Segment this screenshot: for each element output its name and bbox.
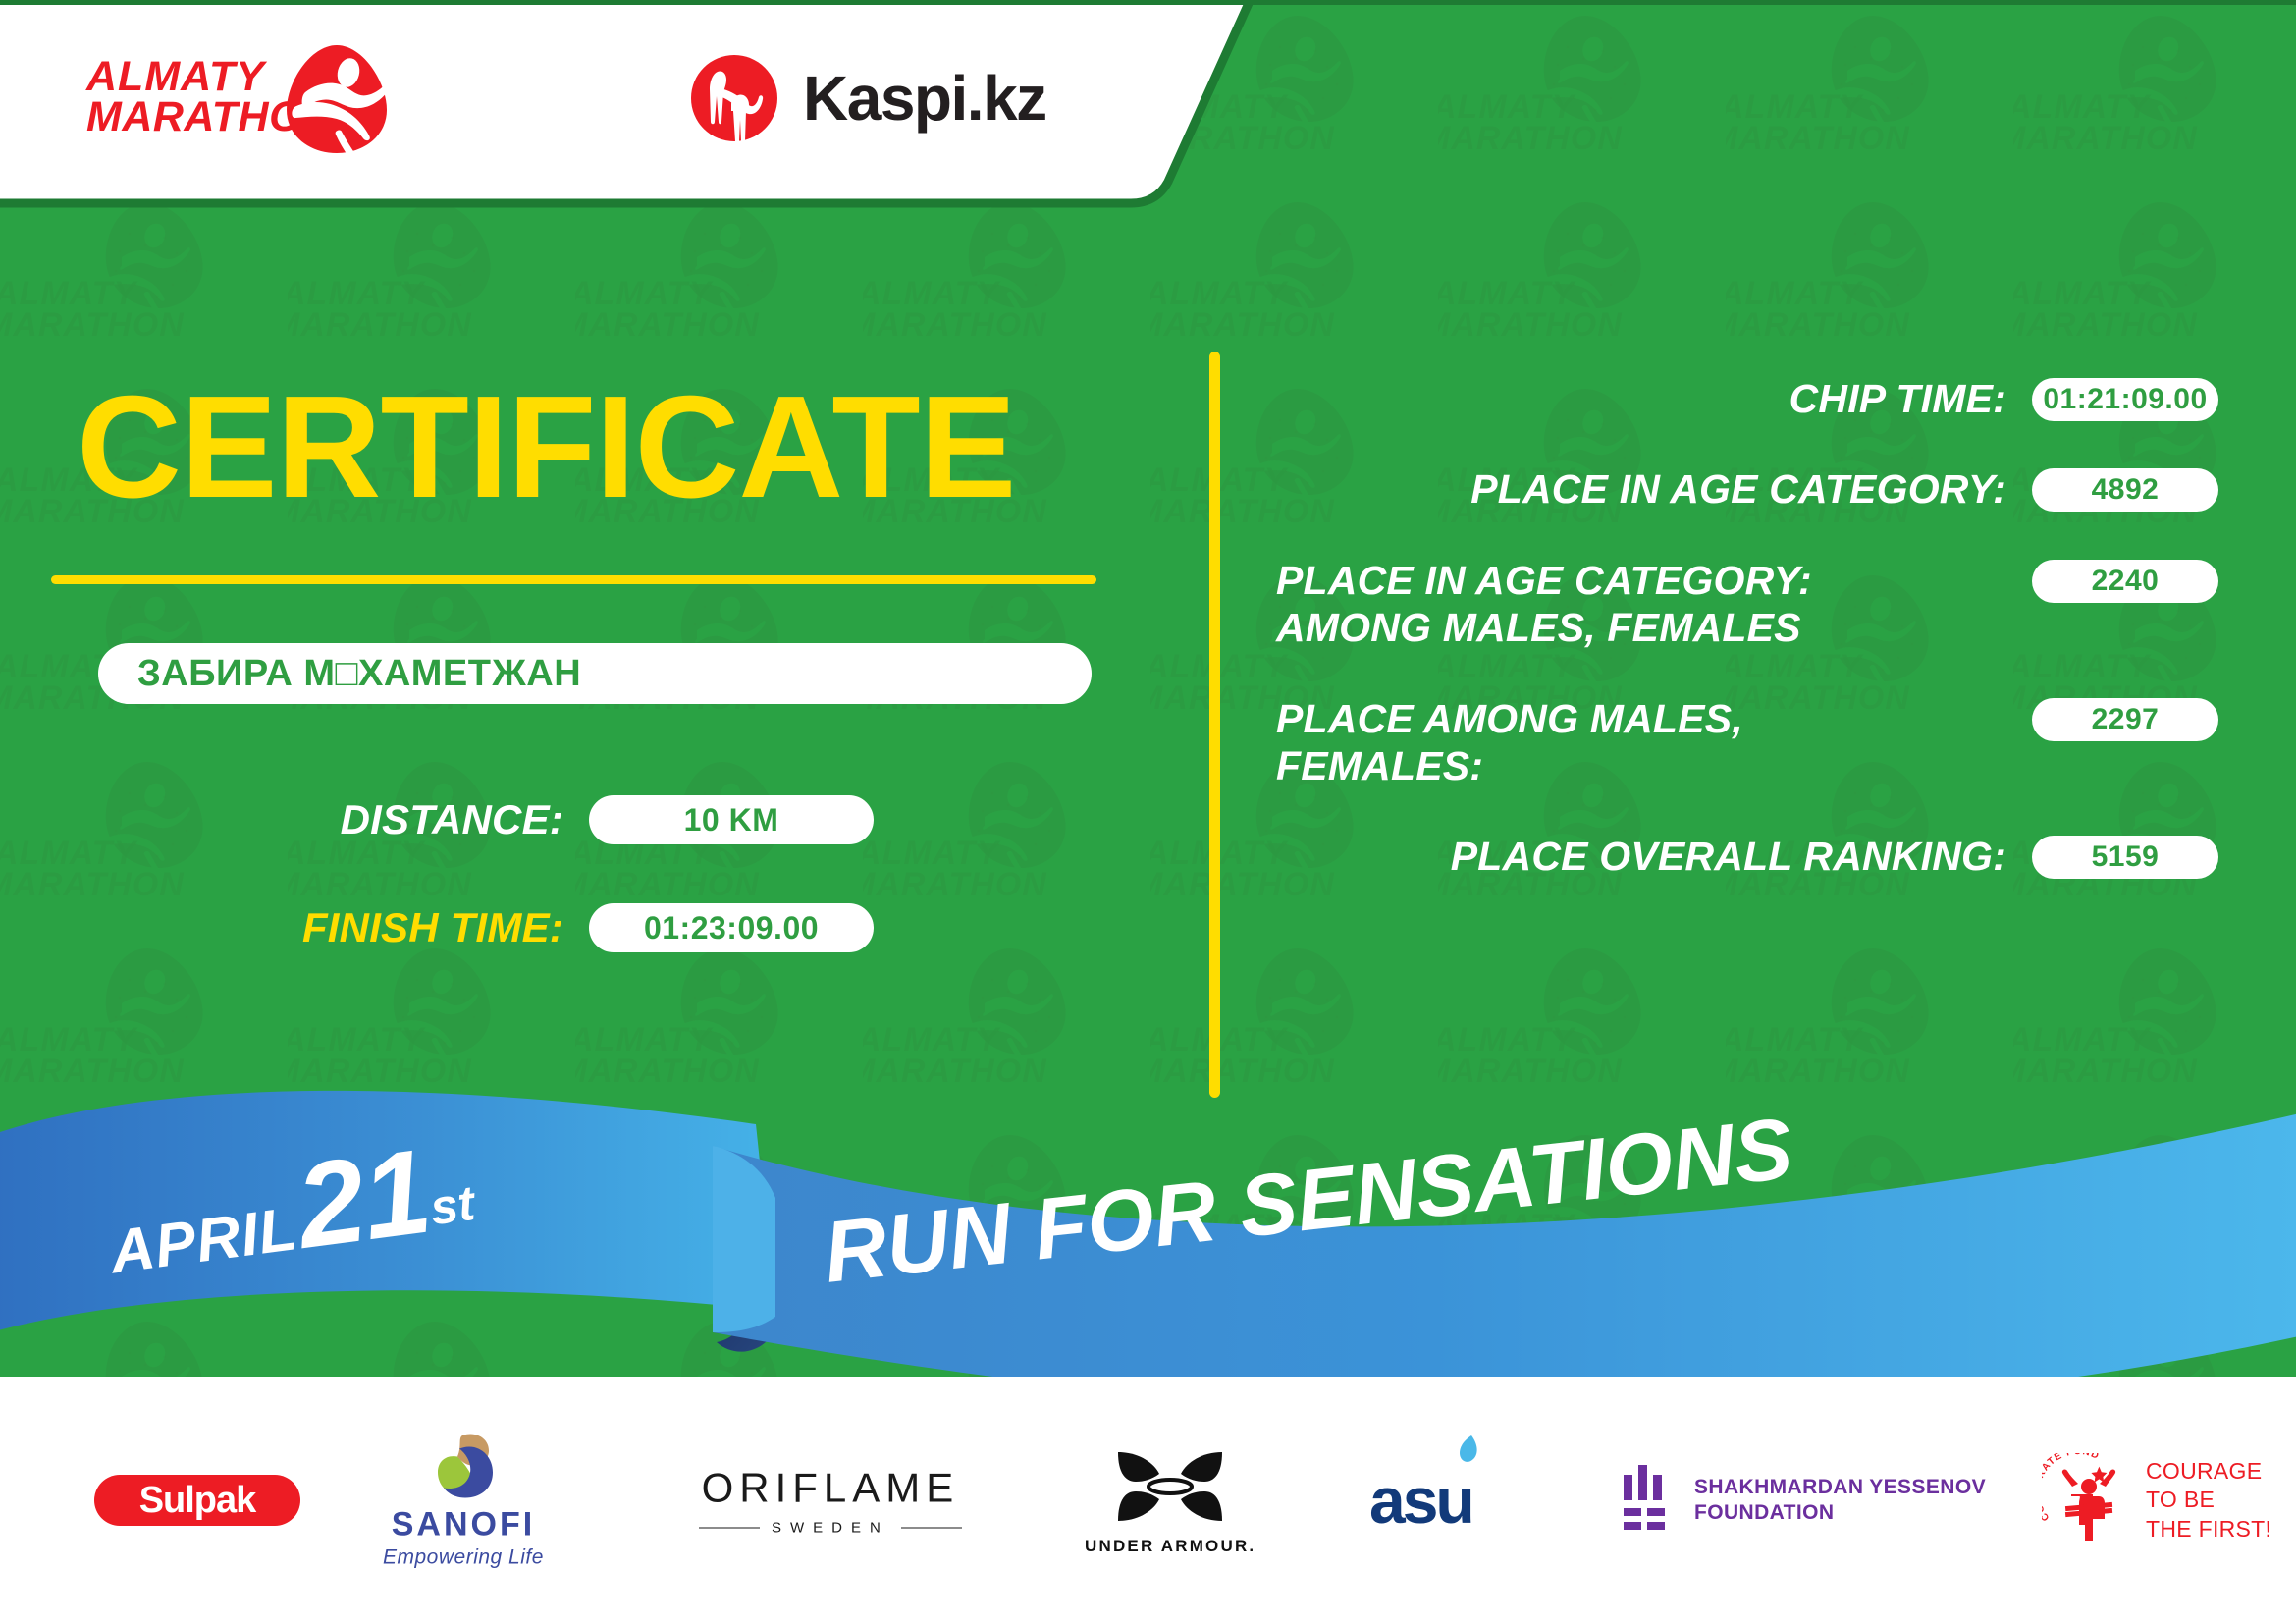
place-among-gender-value: 2297 (2092, 703, 2160, 736)
athlete-name-value: ЗАБИРА М□ХАМЕТЖАН (137, 653, 581, 695)
place-among-gender-label: PLACE AMONG MALES, FEMALES: (1276, 695, 2032, 790)
ribbon-month: APRIL (106, 1195, 300, 1286)
place-overall-value: 5159 (2092, 840, 2160, 874)
chip-time-label: CHIP TIME: (1276, 375, 2032, 422)
result-row-place-age-category-gender: PLACE IN AGE CATEGORY: AMONG MALES, FEMA… (1276, 557, 2218, 652)
sponsor-sanofi: SANOFI Empowering Life (383, 1432, 544, 1570)
result-row-chip-time: CHIP TIME: 01:21:09.00 (1276, 375, 2218, 422)
sponsor-oriflame: ORIFLAME SWEDEN (699, 1465, 962, 1537)
page-title: CERTIFICATE (77, 375, 1015, 520)
sponsor-list: Sulpak SANOFI Empowering Life ORIFLAME S… (0, 1377, 2296, 1624)
distance-value: 10 KM (684, 802, 779, 839)
place-age-category-gender-pill: 2240 (2032, 560, 2218, 603)
sanofi-mark-icon (408, 1432, 518, 1500)
ribbon-day-suffix: st (427, 1175, 477, 1235)
sponsor-sulpak: Sulpak (94, 1475, 300, 1526)
stat-row-finish-time: FINISH TIME: 01:23:09.00 (0, 899, 1158, 956)
top-divider (0, 0, 2296, 5)
runner-droplet-icon (279, 41, 395, 157)
result-row-place-overall: PLACE OVERALL RANKING: 5159 (1276, 833, 2218, 880)
finish-time-label: FINISH TIME: (0, 904, 589, 951)
place-overall-label: PLACE OVERALL RANKING: (1276, 833, 2032, 880)
under-armour-icon (1108, 1444, 1232, 1529)
sponsor-yessenov-foundation: SHAKHMARDAN YESSENOV FOUNDATION (1620, 1461, 1986, 1540)
left-stat-rows: DISTANCE: 10 KM FINISH TIME: 01:23:09.00 (0, 791, 1158, 1007)
athlete-name-field: ЗАБИРА М□ХАМЕТЖАН (98, 643, 1092, 704)
sponsor-under-armour: UNDER ARMOUR. (1085, 1444, 1255, 1556)
finish-time-pill: 01:23:09.00 (589, 903, 874, 952)
corporate-fund-wordmark: COURAGE TO BE THE FIRST! (2146, 1457, 2271, 1543)
kaspi-family-circle-icon (687, 51, 781, 145)
result-row-place-age-category: PLACE IN AGE CATEGORY: 4892 (1276, 465, 2218, 513)
ribbon-day: 21 (290, 1124, 437, 1273)
chip-time-pill: 01:21:09.00 (2032, 378, 2218, 421)
place-age-category-value: 4892 (2092, 473, 2160, 507)
place-age-category-label: PLACE IN AGE CATEGORY: (1276, 465, 2032, 513)
sponsor-footer: Sulpak SANOFI Empowering Life ORIFLAME S… (0, 1377, 2296, 1624)
kaspi-wordmark: Kaspi.kz (803, 62, 1046, 135)
vertical-divider (1209, 352, 1220, 1098)
finish-time-value: 01:23:09.00 (644, 910, 819, 947)
corporate-fund-line1: COURAGE (2146, 1457, 2271, 1486)
oriflame-wordmark: ORIFLAME (702, 1465, 960, 1512)
kaspi-logo: Kaspi.kz (687, 51, 1046, 145)
certificate-canvas: ALMATY MARATHON ALMATY M (0, 0, 2296, 1624)
under-armour-wordmark: UNDER ARMOUR. (1085, 1537, 1255, 1556)
header-logos: ALMATY MARATHON (0, 0, 1178, 196)
sponsor-corporate-fund: CORPORATE FUND COURAGE TO (2042, 1453, 2271, 1547)
yessenov-line1: SHAKHMARDAN YESSENOV (1694, 1475, 1986, 1500)
place-among-gender-pill: 2297 (2032, 698, 2218, 741)
yessenov-line2: FOUNDATION (1694, 1500, 1986, 1526)
asu-wordmark: asu (1369, 1463, 1472, 1538)
corporate-fund-line3: THE FIRST! (2146, 1515, 2271, 1543)
stat-row-distance: DISTANCE: 10 KM (0, 791, 1158, 848)
distance-label: DISTANCE: (0, 796, 589, 843)
place-overall-pill: 5159 (2032, 836, 2218, 879)
yessenov-wordmark: SHAKHMARDAN YESSENOV FOUNDATION (1694, 1475, 1986, 1527)
sulpak-wordmark: Sulpak (139, 1480, 256, 1522)
place-age-category-gender-label: PLACE IN AGE CATEGORY: AMONG MALES, FEMA… (1276, 557, 2032, 652)
sanofi-wordmark: SANOFI (392, 1506, 535, 1544)
title-underline (51, 575, 1096, 584)
distance-pill: 10 KM (589, 795, 874, 844)
oriflame-tagline: SWEDEN (699, 1520, 962, 1537)
sanofi-tagline: Empowering Life (383, 1546, 544, 1570)
sponsor-asu: asu (1369, 1463, 1472, 1538)
chip-time-value: 01:21:09.00 (2043, 383, 2207, 416)
place-age-category-gender-value: 2240 (2092, 565, 2160, 598)
place-age-category-pill: 4892 (2032, 468, 2218, 512)
yessenov-bars-icon (1620, 1461, 1673, 1540)
almaty-marathon-logo: ALMATY MARATHON (86, 43, 400, 151)
results-column: CHIP TIME: 01:21:09.00 PLACE IN AGE CATE… (1276, 375, 2218, 924)
asu-droplet-icon (1456, 1434, 1483, 1467)
result-row-place-among-gender: PLACE AMONG MALES, FEMALES: 2297 (1276, 695, 2218, 790)
corporate-fund-runner-icon: CORPORATE FUND (2042, 1453, 2132, 1547)
corporate-fund-line2: TO BE (2146, 1486, 2271, 1514)
